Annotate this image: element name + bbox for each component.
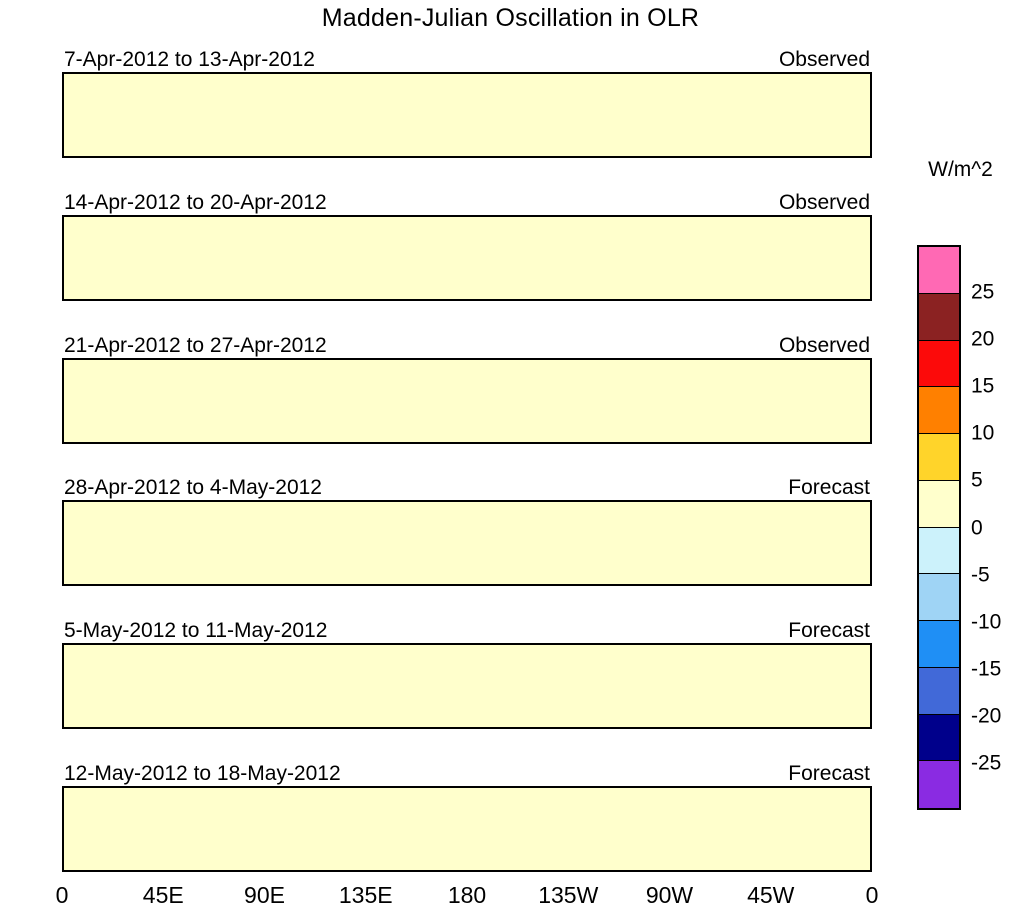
colorbar-tick-5: 5 — [971, 470, 983, 491]
panel-5-kind: Forecast — [788, 620, 870, 641]
panel-2-plot — [62, 215, 872, 301]
colorbar-band-0 — [919, 247, 959, 294]
x-tick-180: 180 — [448, 884, 486, 907]
page-title: Madden-Julian Oscillation in OLR — [0, 4, 1021, 33]
figure-canvas: Madden-Julian Oscillation in OLR 7-Apr-2… — [0, 0, 1021, 920]
colorbar-band-5 — [919, 481, 959, 528]
colorbar-band-9 — [919, 668, 959, 715]
panel-1-date-range: 7-Apr-2012 to 13-Apr-2012 — [64, 49, 315, 70]
x-tick-90E: 90E — [244, 884, 285, 907]
colorbar-band-1 — [919, 294, 959, 341]
colorbar-tick-10: 10 — [971, 423, 994, 444]
colorbar-band-6 — [919, 528, 959, 575]
panel-2-kind: Observed — [779, 192, 870, 213]
colorbar-tick--5: -5 — [971, 564, 990, 585]
colorbar-band-3 — [919, 387, 959, 434]
colorbar-tick-20: 20 — [971, 329, 994, 350]
colorbar-band-11 — [919, 761, 959, 808]
panel-2: 14-Apr-2012 to 20-Apr-2012 Observed — [62, 215, 872, 301]
x-tick-135W: 135W — [538, 884, 598, 907]
panel-3-date-range: 21-Apr-2012 to 27-Apr-2012 — [64, 335, 327, 356]
colorbar-tick--25: -25 — [971, 752, 1001, 773]
panel-4: 28-Apr-2012 to 4-May-2012 Forecast — [62, 500, 872, 586]
colorbar-band-10 — [919, 715, 959, 762]
colorbar-tick-25: 25 — [971, 282, 994, 303]
x-tick-135E: 135E — [339, 884, 393, 907]
colorbar-band-4 — [919, 434, 959, 481]
panel-6: 12-May-2012 to 18-May-2012 Forecast — [62, 786, 872, 872]
x-axis-tick-labels: 045E90E135E180135W90W45W0 — [62, 884, 872, 912]
panel-5-plot — [62, 643, 872, 729]
x-tick-0: 0 — [56, 884, 69, 907]
panel-6-plot — [62, 786, 872, 872]
panel-3-kind: Observed — [779, 335, 870, 356]
colorbar-tick--10: -10 — [971, 611, 1001, 632]
panel-1: 7-Apr-2012 to 13-Apr-2012 Observed — [62, 72, 872, 158]
panel-3-plot — [62, 358, 872, 444]
x-tick-45W: 45W — [747, 884, 794, 907]
panel-4-plot — [62, 500, 872, 586]
colorbar-unit-label: W/m^2 — [900, 158, 1021, 182]
colorbar — [917, 245, 961, 810]
panel-5-date-range: 5-May-2012 to 11-May-2012 — [64, 620, 327, 641]
panel-3-header: 21-Apr-2012 to 27-Apr-2012 Observed — [64, 331, 870, 356]
panel-4-kind: Forecast — [788, 477, 870, 498]
colorbar-band-7 — [919, 574, 959, 621]
panel-4-date-range: 28-Apr-2012 to 4-May-2012 — [64, 477, 322, 498]
panel-3: 21-Apr-2012 to 27-Apr-2012 Observed — [62, 358, 872, 444]
panel-1-kind: Observed — [779, 49, 870, 70]
colorbar-band-2 — [919, 341, 959, 388]
panel-5: 5-May-2012 to 11-May-2012 Forecast — [62, 643, 872, 729]
x-tick-0: 0 — [866, 884, 879, 907]
x-tick-45E: 45E — [143, 884, 184, 907]
colorbar-tick-0: 0 — [971, 517, 983, 538]
panel-5-header: 5-May-2012 to 11-May-2012 Forecast — [64, 616, 870, 641]
panel-2-header: 14-Apr-2012 to 20-Apr-2012 Observed — [64, 188, 870, 213]
colorbar-tick--20: -20 — [971, 705, 1001, 726]
panel-6-kind: Forecast — [788, 763, 870, 784]
x-tick-90W: 90W — [646, 884, 693, 907]
panel-1-header: 7-Apr-2012 to 13-Apr-2012 Observed — [64, 45, 870, 70]
colorbar-tick-15: 15 — [971, 376, 994, 397]
colorbar-band-8 — [919, 621, 959, 668]
panel-4-header: 28-Apr-2012 to 4-May-2012 Forecast — [64, 473, 870, 498]
panel-6-date-range: 12-May-2012 to 18-May-2012 — [64, 763, 341, 784]
colorbar-tick-labels: 2520151050-5-10-15-20-25 — [963, 245, 1021, 810]
panel-2-date-range: 14-Apr-2012 to 20-Apr-2012 — [64, 192, 327, 213]
panel-1-plot — [62, 72, 872, 158]
panel-6-header: 12-May-2012 to 18-May-2012 Forecast — [64, 759, 870, 784]
colorbar-tick--15: -15 — [971, 658, 1001, 679]
